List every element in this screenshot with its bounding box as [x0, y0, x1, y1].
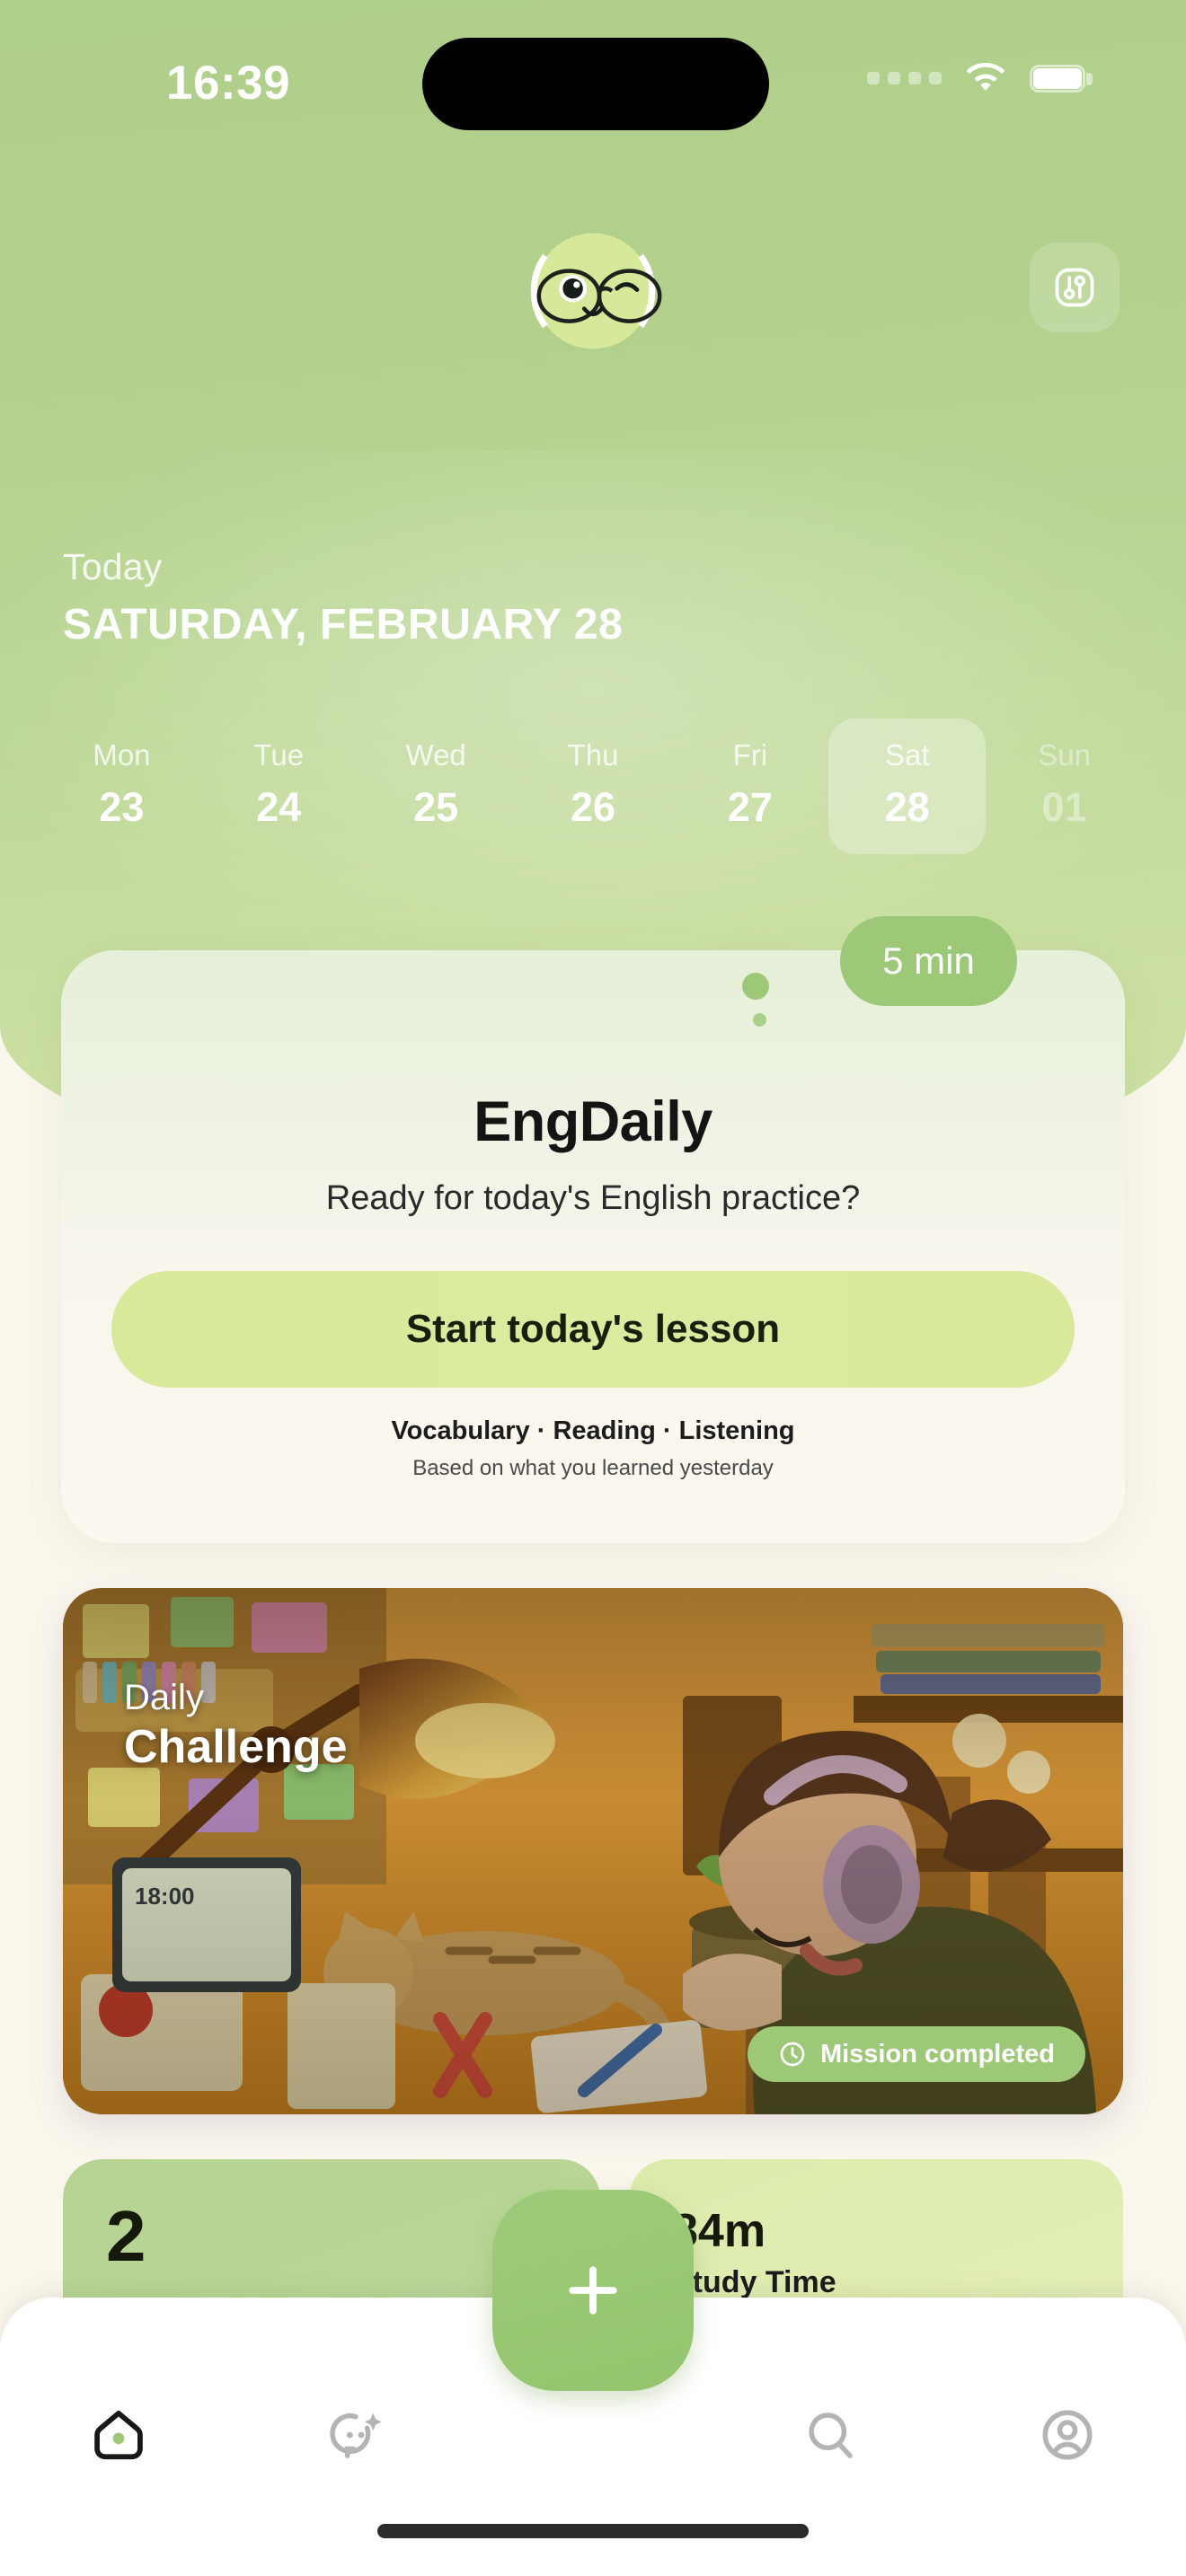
ai-face-icon — [326, 2405, 385, 2465]
status-bar: 16:39 — [0, 0, 1186, 153]
tennis-ball-mascot-with-glasses-icon — [518, 216, 668, 366]
sliders-settings-icon — [1051, 264, 1098, 311]
lesson-tags: Vocabulary · Reading · Listening — [61, 1416, 1125, 1446]
status-bar-icons — [867, 63, 1085, 93]
lesson-subtitle: Ready for today's English practice? — [61, 1179, 1125, 1218]
settings-button[interactable] — [1030, 243, 1120, 332]
week-day-name: Tue — [253, 738, 304, 772]
home-icon — [89, 2405, 148, 2465]
week-day-mon[interactable]: Mon23 — [43, 719, 200, 854]
duration-badge: 5 min — [840, 916, 1017, 1006]
lesson-card: 5 min EngDaily Ready for today's English… — [61, 950, 1125, 1543]
week-day-strip: Mon23Tue24Wed25Thu26Fri27Sat28Sun01 — [43, 719, 1143, 854]
week-day-number: 28 — [885, 784, 930, 831]
search-icon — [801, 2405, 860, 2465]
app-root: 16:39 — [0, 0, 1186, 2576]
home-indicator — [377, 2524, 809, 2538]
nav-item-profile[interactable] — [949, 2395, 1186, 2475]
daily-challenge-card[interactable]: 18:00 Daily Challenge Mission completed — [63, 1588, 1123, 2114]
status-bar-time: 16:39 — [166, 56, 346, 110]
speech-bubble-dot-large — [742, 973, 769, 1000]
week-day-name: Mon — [93, 738, 150, 772]
week-day-name: Wed — [406, 738, 466, 772]
stat-value: 2 — [106, 2201, 146, 2272]
dynamic-island — [422, 38, 769, 130]
week-day-name: Fri — [733, 738, 767, 772]
week-day-number: 25 — [413, 784, 458, 831]
challenge-title: Challenge — [124, 1720, 348, 1774]
mission-status-label: Mission completed — [820, 2040, 1055, 2069]
date-header: Today SATURDAY, FEBRUARY 28 — [63, 546, 623, 649]
week-day-number: 26 — [571, 784, 615, 831]
week-day-tue[interactable]: Tue24 — [200, 719, 358, 854]
battery-icon — [1030, 65, 1085, 93]
add-button[interactable] — [492, 2190, 694, 2391]
bottom-navigation-bar — [0, 2298, 1186, 2576]
week-day-thu[interactable]: Thu26 — [515, 719, 672, 854]
mission-status-badge: Mission completed — [748, 2026, 1085, 2082]
today-label: Today — [63, 546, 623, 588]
week-day-number: 23 — [99, 784, 144, 831]
profile-icon — [1038, 2405, 1097, 2465]
today-date: SATURDAY, FEBRUARY 28 — [63, 600, 623, 649]
speech-bubble-dot-small — [753, 1013, 766, 1027]
app-title: EngDaily — [61, 1090, 1125, 1154]
week-day-fri[interactable]: Fri27 — [671, 719, 828, 854]
wifi-icon — [965, 63, 1006, 93]
nav-item-spacer — [474, 2395, 712, 2475]
nav-item-home[interactable] — [0, 2395, 237, 2475]
week-day-name: Sun — [1038, 738, 1091, 772]
lesson-note: Based on what you learned yesterday — [61, 1456, 1125, 1481]
nav-item-search[interactable] — [712, 2395, 949, 2475]
nav-item-ai-assistant[interactable] — [237, 2395, 474, 2475]
start-lesson-button[interactable]: Start today's lesson — [111, 1271, 1075, 1388]
week-day-name: Thu — [568, 738, 619, 772]
week-day-number: 27 — [728, 784, 773, 831]
week-day-name: Sat — [885, 738, 930, 772]
week-day-number: 24 — [256, 784, 301, 831]
nav-items — [0, 2395, 1186, 2475]
plus-icon — [558, 2255, 628, 2325]
week-day-number: 01 — [1042, 784, 1087, 831]
signal-dots-icon — [867, 72, 942, 84]
stat-label: Study Time — [672, 2265, 836, 2300]
clock-icon — [778, 2040, 807, 2069]
week-day-wed[interactable]: Wed25 — [358, 719, 515, 854]
week-day-sun[interactable]: Sun01 — [986, 719, 1143, 854]
week-day-sat[interactable]: Sat28 — [828, 719, 986, 854]
challenge-eyebrow: Daily — [124, 1678, 204, 1718]
